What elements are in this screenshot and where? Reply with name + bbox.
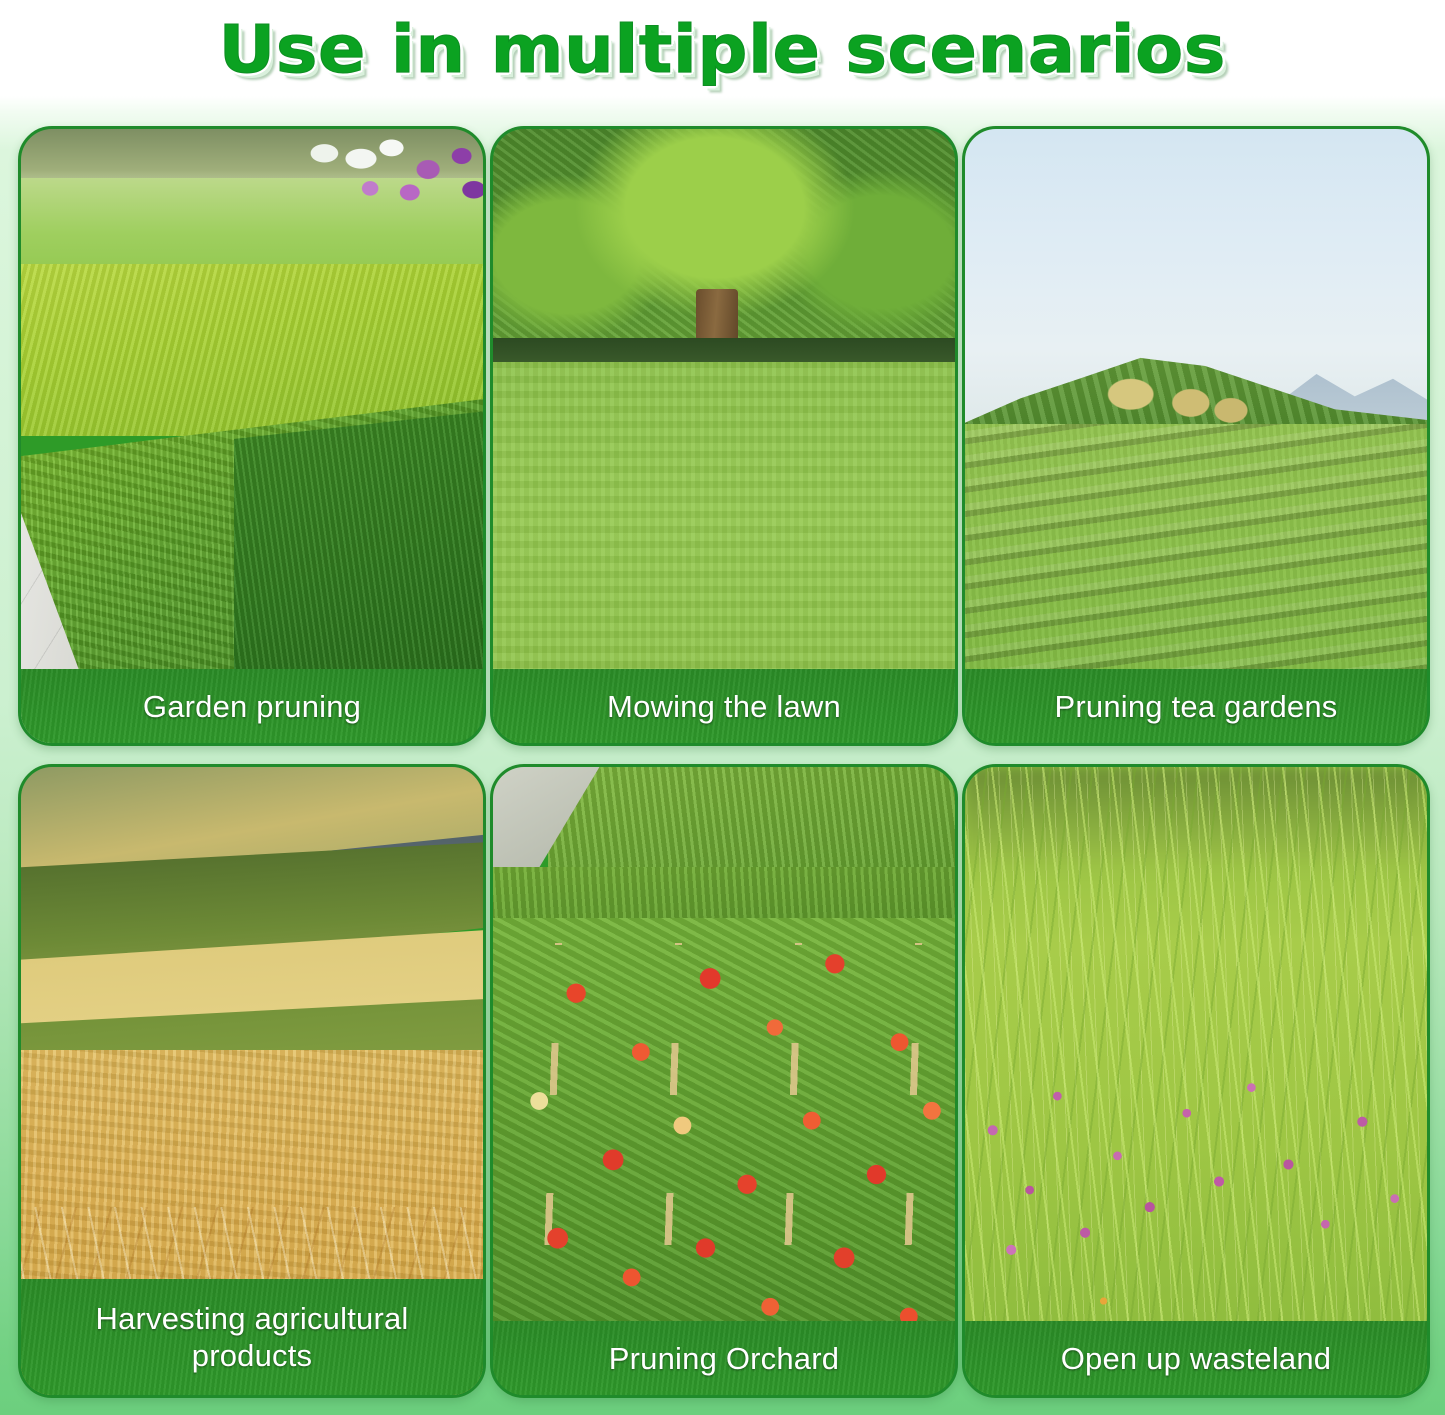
photo-pruning-orchard bbox=[493, 767, 955, 1395]
page-title-bar: Use in multiple scenarios bbox=[0, 0, 1445, 100]
bare-soil-patch-layer bbox=[1094, 362, 1260, 423]
infographic-page: Use in multiple scenarios Garden pruning bbox=[0, 0, 1445, 1415]
scenario-tile-pruning-orchard[interactable]: Pruning Orchard bbox=[490, 764, 958, 1398]
photo-pruning-tea-gardens bbox=[965, 129, 1427, 743]
flower-cluster-layer bbox=[178, 129, 483, 264]
scenario-grid: Garden pruning Mowing the lawn Pruning t… bbox=[18, 126, 1430, 1398]
tile-caption-mowing-lawn: Mowing the lawn bbox=[493, 669, 955, 743]
photo-mowing-lawn bbox=[493, 129, 955, 743]
tile-caption-garden-pruning: Garden pruning bbox=[21, 669, 483, 743]
scenario-tile-pruning-tea-gardens[interactable]: Pruning tea gardens bbox=[962, 126, 1430, 746]
tile-caption-harvesting-products: Harvesting agricultural products bbox=[21, 1279, 483, 1395]
photo-garden-pruning bbox=[21, 129, 483, 743]
page-title: Use in multiple scenarios bbox=[219, 14, 1226, 86]
tile-caption-pruning-tea-gardens: Pruning tea gardens bbox=[965, 669, 1427, 743]
tree-line-shadow-layer bbox=[493, 338, 955, 363]
scenario-tile-mowing-lawn[interactable]: Mowing the lawn bbox=[490, 126, 958, 746]
photo-open-up-wasteland bbox=[965, 767, 1427, 1395]
tile-caption-pruning-orchard: Pruning Orchard bbox=[493, 1321, 955, 1395]
tile-caption-open-up-wasteland: Open up wasteland bbox=[965, 1321, 1427, 1395]
scenario-tile-garden-pruning[interactable]: Garden pruning bbox=[18, 126, 486, 746]
scenario-tile-open-up-wasteland[interactable]: Open up wasteland bbox=[962, 764, 1430, 1398]
scenario-tile-harvesting-products[interactable]: Harvesting agricultural products bbox=[18, 764, 486, 1398]
